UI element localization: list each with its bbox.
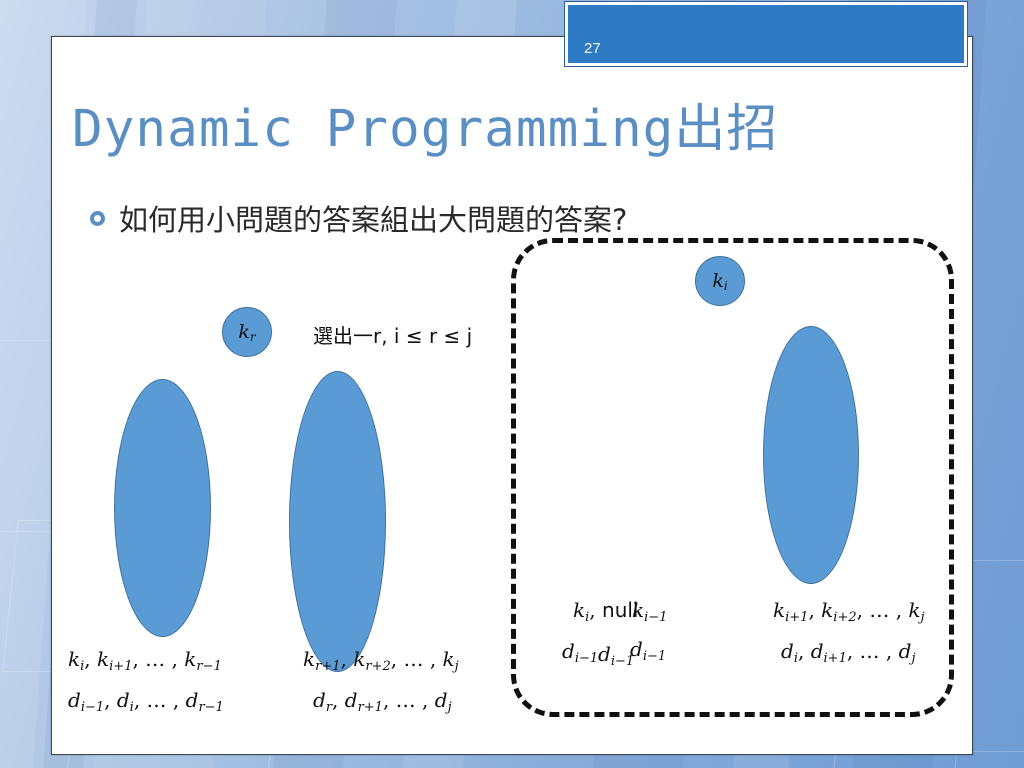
left-ellipse-keys-label: ki, ki+1, … , kr−1 <box>68 647 222 674</box>
select-r-note: 選出一r, i ≤ r ≤ j <box>313 320 472 349</box>
right-ellipse-keys-label: ki+1, ki+2, … , kj <box>773 598 925 625</box>
node-k-r-label: kr <box>238 321 255 344</box>
ellipse-right-subtree <box>289 371 386 672</box>
right-ellipse-dummies-label: di, di+1, … , dj <box>781 639 915 666</box>
overlap-dummies-label-c: di−1 <box>630 637 666 664</box>
left-ellipse-dummies-label: di−1, di, … , dr−1 <box>68 688 224 715</box>
node-k-i-label: ki <box>712 270 727 293</box>
ellipse-merged-subtree <box>763 326 859 584</box>
middle-ellipse-keys-label: kr+1, kr+2, … , kj <box>303 647 459 674</box>
overlap-keys-label-a: ki, null <box>573 598 638 625</box>
overlap-dummies-label-a: di−1 <box>562 639 598 666</box>
diagram-canvas: kr ki 選出一r, i ≤ r ≤ j ki, ki+1, … , kr−1… <box>52 37 972 754</box>
node-k-i: ki <box>695 256 745 306</box>
node-k-r: kr <box>222 307 272 357</box>
slide-card: 27 Dynamic Programming出招 如何用小問題的答案組出大問題的… <box>51 36 973 755</box>
overlap-keys-label-b: ki−1 <box>632 598 667 625</box>
ellipse-left-subtree <box>114 379 211 637</box>
middle-ellipse-dummies-label: dr, dr+1, … , dj <box>313 688 452 715</box>
overlap-dummies-label-b: di−1 <box>598 642 634 669</box>
